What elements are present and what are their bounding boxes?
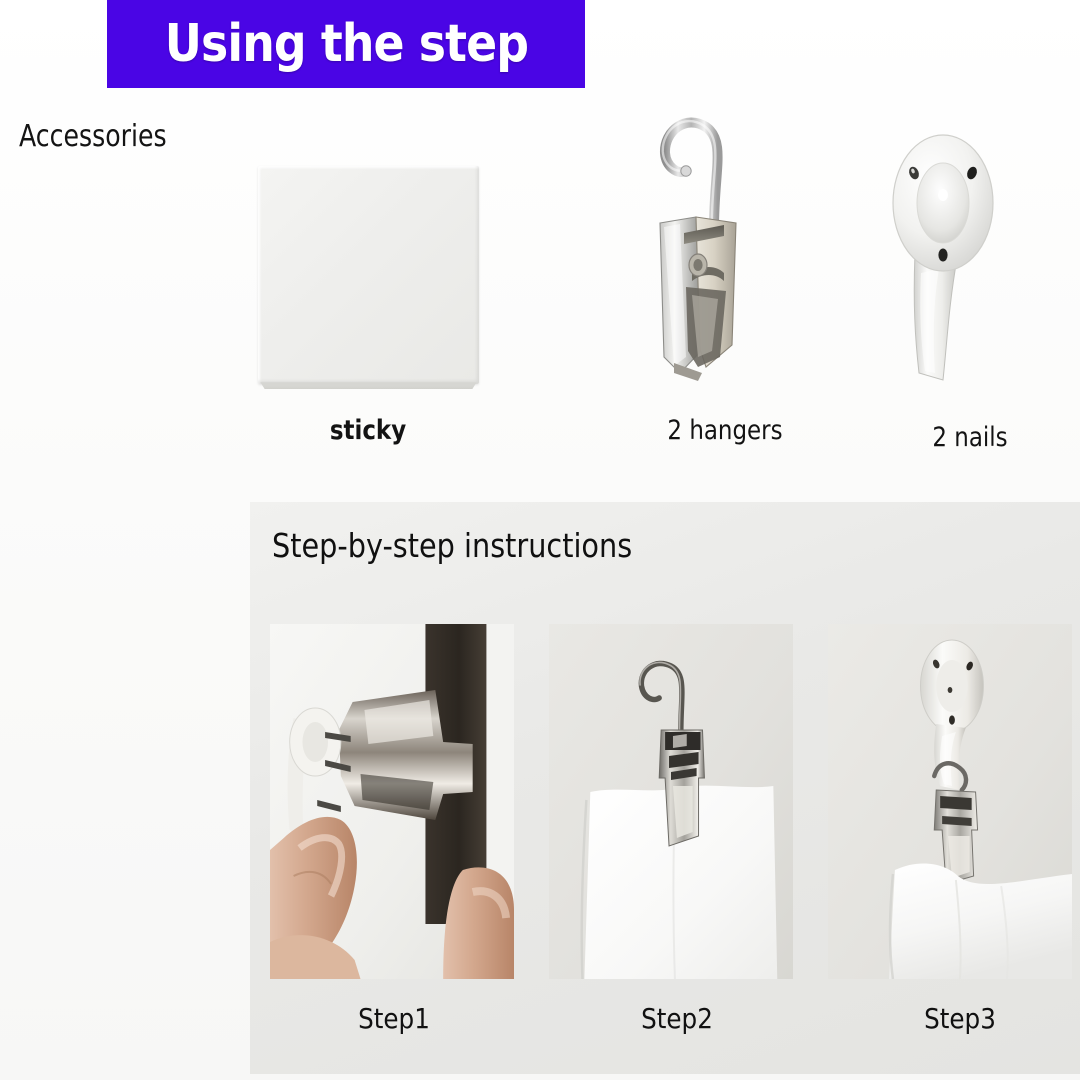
step-cell-1 <box>270 624 514 979</box>
step-instructions-heading: Step-by-step instructions <box>272 526 632 565</box>
accessories-section-label: Accessories <box>19 119 167 154</box>
hammering-nail-into-wall-photo <box>270 624 514 979</box>
accessory-caption-sticky: sticky <box>283 415 453 446</box>
wall-hook-nail-icon <box>885 133 1005 388</box>
wall-hook-with-clip-and-towel-photo <box>828 624 1072 979</box>
banner-title: Using the step <box>164 18 527 70</box>
step-caption-2: Step2 <box>568 1002 786 1035</box>
accessory-caption-nails: 2 nails <box>889 422 1051 453</box>
step-photos-row <box>270 624 1072 979</box>
adhesive-square-icon <box>258 166 479 384</box>
hook-clip-holding-fabric-photo <box>549 624 793 979</box>
hook-clip-icon <box>640 105 770 390</box>
product-instruction-image: Using the step Accessories <box>0 0 1080 1080</box>
step-cell-2 <box>549 624 793 979</box>
step-caption-3: Step3 <box>851 1002 1069 1035</box>
title-banner: Using the step <box>107 0 585 88</box>
step-cell-3 <box>828 624 1072 979</box>
step-instructions-panel: Step-by-step instructions <box>250 502 1080 1074</box>
accessory-caption-hangers: 2 hangers <box>636 415 815 446</box>
step-caption-1: Step1 <box>285 1002 503 1035</box>
